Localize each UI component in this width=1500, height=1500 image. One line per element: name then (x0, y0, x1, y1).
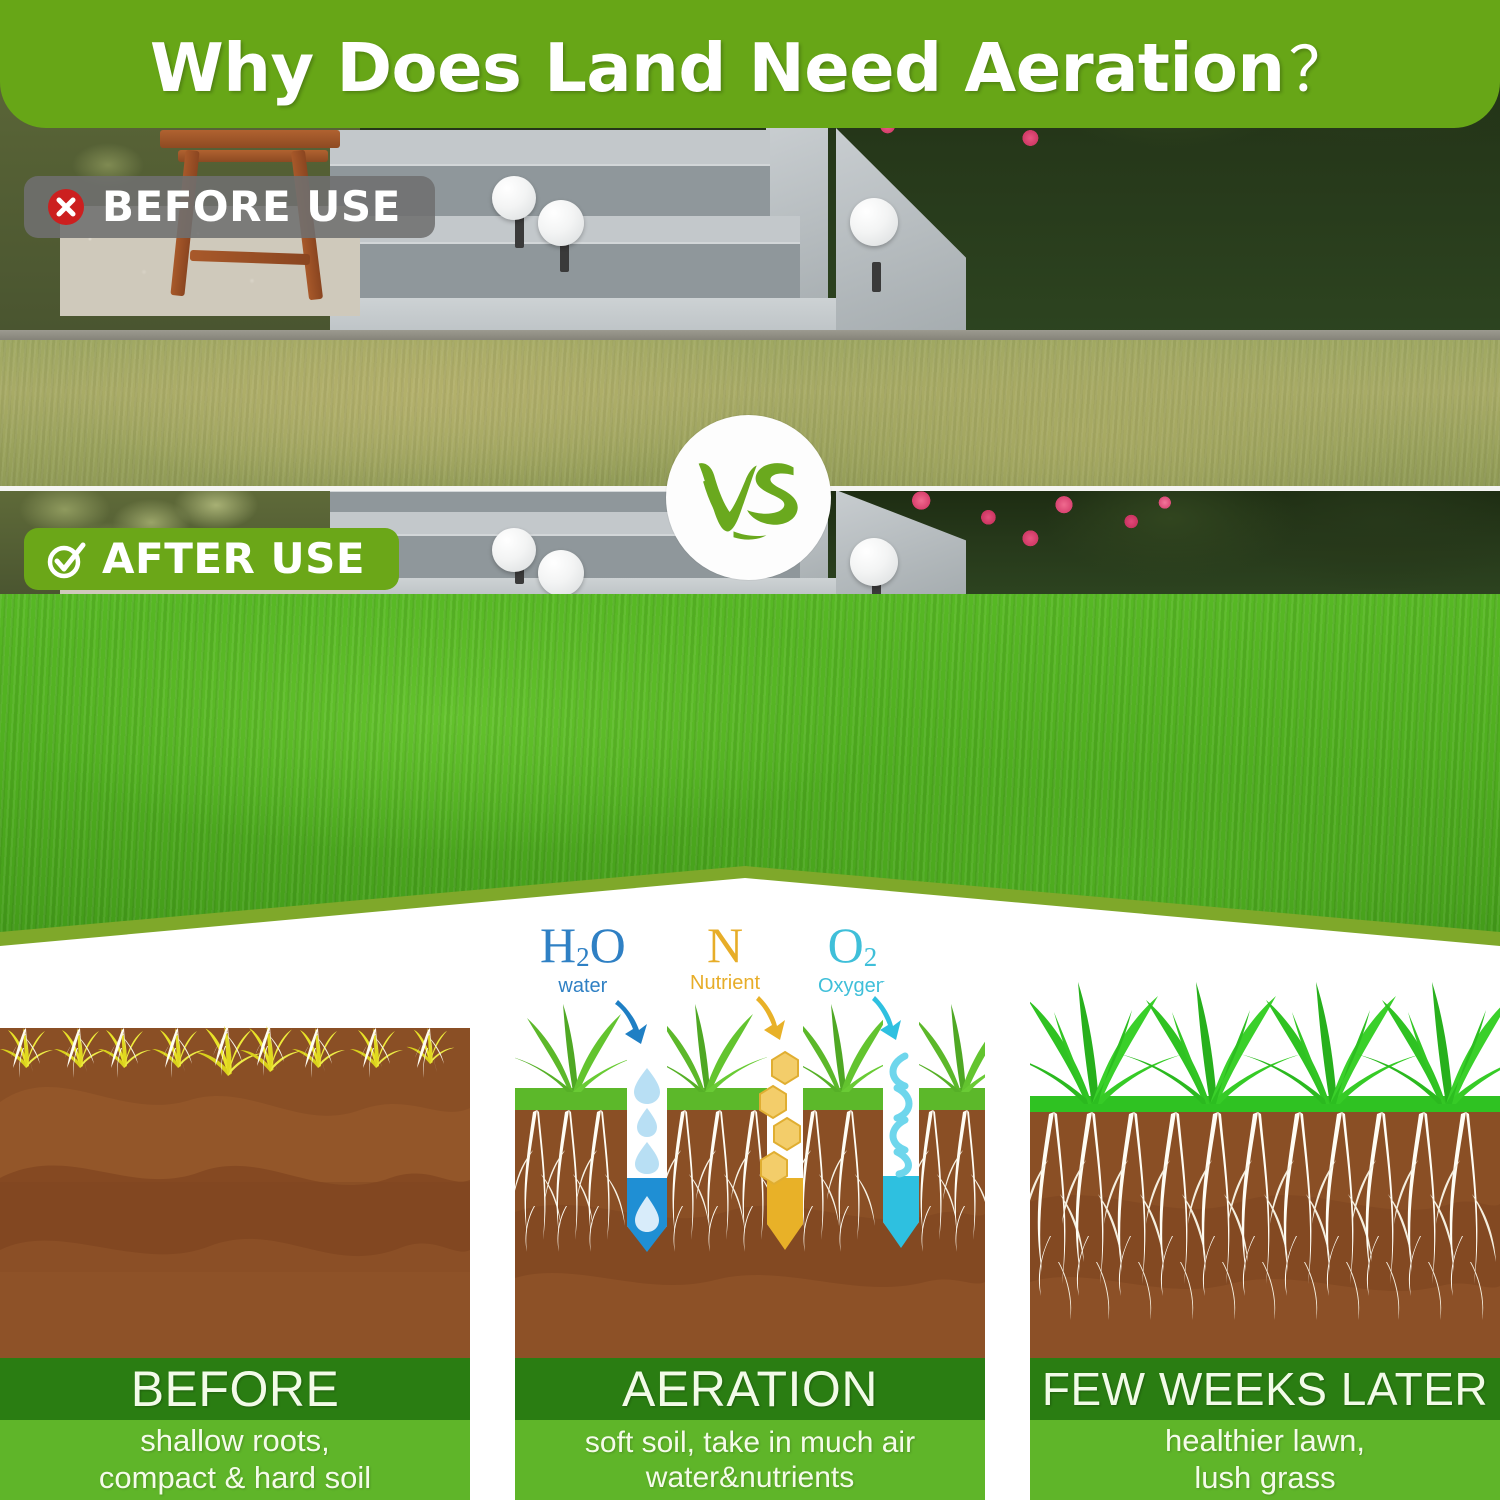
stair-tread-1 (330, 130, 770, 164)
card-later: FEW WEEKS LATER healthier lawn, lush gra… (1030, 982, 1500, 1500)
n-symbol: N (707, 917, 743, 973)
card-aeration-desc: soft soil, take in much air water&nutrie… (515, 1420, 985, 1500)
x-circle-icon (46, 187, 86, 227)
h2o-symbol: H (540, 917, 576, 973)
card-later-desc-line2: lush grass (1194, 1460, 1335, 1497)
o2-subscript: 2 (864, 942, 878, 972)
vs-badge (666, 415, 831, 580)
badge-before-use[interactable]: BEFORE USE (24, 176, 435, 238)
globe-lamp-stem (872, 262, 881, 292)
card-before-desc: shallow roots, compact & hard soil (0, 1420, 470, 1500)
card-later-title: FEW WEEKS LATER (1030, 1358, 1500, 1420)
globe-lamp-1 (492, 176, 536, 220)
globe-lamp-3 (850, 198, 898, 246)
globe-lamp-2 (538, 550, 584, 596)
page-title-banner: Why Does Land Need Aeration？ (0, 0, 1500, 128)
h2o-subscript: 2 (576, 942, 590, 972)
aeration-infographic: H2O water N Nutrient O2 Oxygen (0, 878, 1500, 1500)
vs-brush-icon (690, 452, 808, 544)
page-title: Why Does Land Need Aeration？ (150, 19, 1350, 109)
card-later-art (1030, 982, 1500, 1358)
globe-lamp-1 (492, 528, 536, 572)
card-aeration-desc-line2: water&nutrients (646, 1460, 854, 1495)
card-aeration-title: AERATION (515, 1358, 985, 1420)
card-before: BEFORE shallow roots, compact & hard soi… (0, 982, 470, 1500)
infographic-page: Why Does Land Need Aeration？ BEFORE USE … (0, 0, 1500, 1500)
card-aeration-desc-line1: soft soil, take in much air (585, 1425, 915, 1460)
card-before-art (0, 982, 470, 1358)
check-circle-icon (46, 539, 86, 579)
card-before-desc-line2: compact & hard soil (99, 1460, 371, 1497)
card-before-desc-line1: shallow roots, (140, 1423, 330, 1460)
card-later-desc: healthier lawn, lush grass (1030, 1420, 1500, 1500)
o2-symbol: O (828, 917, 864, 973)
globe-lamp-2 (538, 200, 584, 246)
h2o-symbol-tail: O (590, 917, 626, 973)
card-before-title: BEFORE (0, 1358, 470, 1420)
badge-before-label: BEFORE USE (102, 186, 401, 228)
question-mark: ？ (1289, 33, 1351, 106)
page-title-text: Why Does Land Need Aeration (150, 29, 1285, 107)
badge-after-use[interactable]: AFTER USE (24, 528, 399, 590)
card-aeration: AERATION soft soil, take in much air wat… (515, 982, 985, 1500)
globe-lamp-3 (850, 538, 898, 586)
card-later-desc-line1: healthier lawn, (1165, 1423, 1365, 1460)
badge-after-label: AFTER USE (102, 538, 365, 580)
card-aeration-art (515, 982, 985, 1358)
